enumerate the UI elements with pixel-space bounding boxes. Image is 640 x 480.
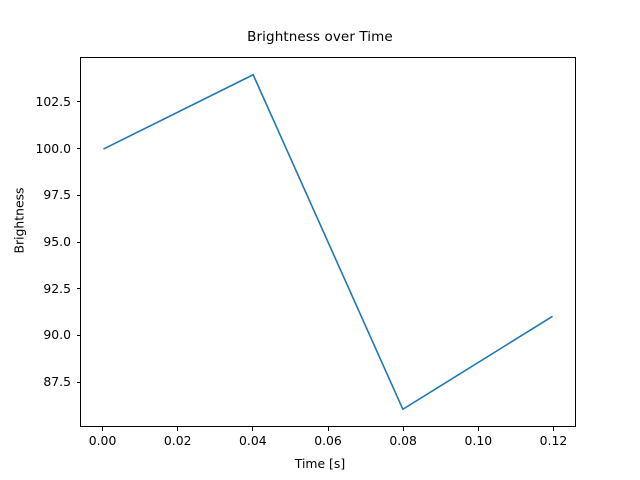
y-tick-label: 102.5 bbox=[0, 94, 71, 109]
x-tick-label: 0.10 bbox=[465, 433, 493, 448]
y-axis-label: Brightness bbox=[12, 176, 27, 266]
x-tick-label: 0.08 bbox=[389, 433, 417, 448]
x-tick-label: 0.12 bbox=[540, 433, 568, 448]
line-plot-svg bbox=[81, 58, 575, 426]
y-tick-mark bbox=[77, 242, 81, 243]
y-tick-mark bbox=[77, 148, 81, 149]
x-tick-label: 0.02 bbox=[164, 433, 192, 448]
x-tick-mark bbox=[553, 427, 554, 431]
y-tick-label: 87.5 bbox=[0, 374, 71, 389]
chart-title: Brightness over Time bbox=[0, 29, 640, 45]
y-tick-mark bbox=[77, 382, 81, 383]
y-tick-label: 100.0 bbox=[0, 141, 71, 156]
brightness-line-series bbox=[103, 75, 552, 410]
x-tick-label: 0.04 bbox=[239, 433, 267, 448]
x-tick-mark bbox=[102, 427, 103, 431]
x-tick-mark bbox=[177, 427, 178, 431]
x-tick-mark bbox=[328, 427, 329, 431]
y-tick-mark bbox=[77, 288, 81, 289]
y-tick-mark bbox=[77, 335, 81, 336]
y-tick-mark bbox=[77, 195, 81, 196]
y-tick-label: 90.0 bbox=[0, 327, 71, 342]
y-tick-label: 92.5 bbox=[0, 281, 71, 296]
x-tick-mark bbox=[478, 427, 479, 431]
x-axis-label: Time [s] bbox=[0, 456, 640, 471]
x-tick-label: 0.00 bbox=[89, 433, 117, 448]
x-tick-mark bbox=[403, 427, 404, 431]
y-tick-mark bbox=[77, 101, 81, 102]
x-tick-mark bbox=[252, 427, 253, 431]
matplotlib-figure: Brightness over Time 87.590.092.595.097.… bbox=[0, 0, 640, 480]
x-tick-label: 0.06 bbox=[314, 433, 342, 448]
plot-axes-area bbox=[80, 57, 576, 427]
